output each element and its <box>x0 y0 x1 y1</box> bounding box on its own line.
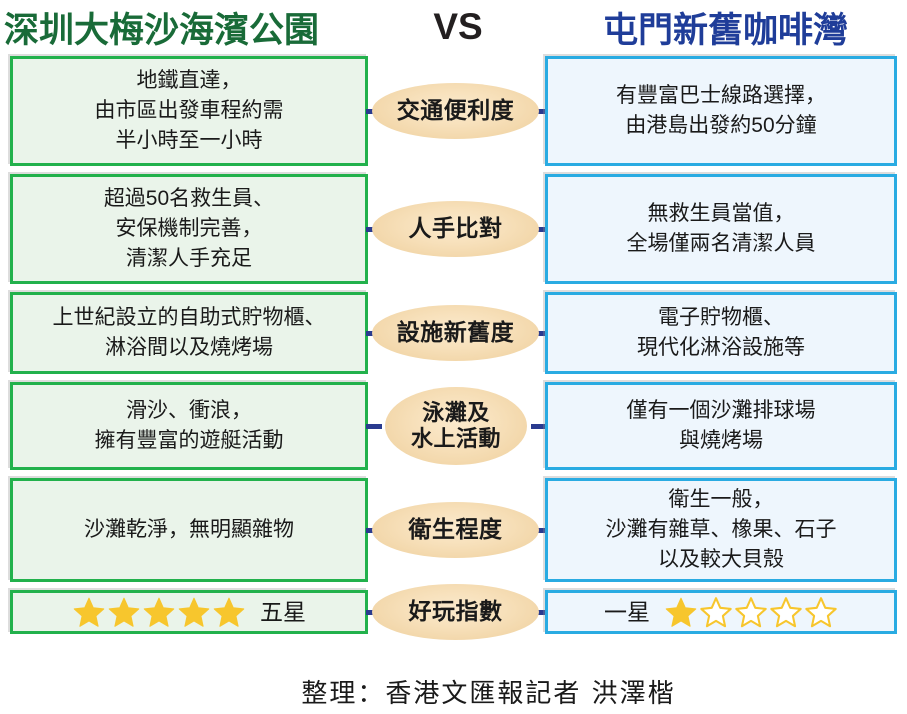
header: 深圳大梅沙海濱公園 VS 屯門新舊咖啡灣 <box>0 0 907 54</box>
right-rating-label: 一星 <box>604 596 650 629</box>
left-rating-label: 五星 <box>260 596 306 629</box>
star-outline-icon <box>699 596 733 629</box>
right-detail-box: 衛生一般，沙灘有雜草、橡果、石子以及較大貝殼 <box>545 478 897 582</box>
comparison-row: 地鐵直達，由市區出發車程約需半小時至一小時交通便利度有豐富巴士線路選擇，由港島出… <box>0 56 907 166</box>
category-label-text: 人手比對 <box>409 215 503 243</box>
star-filled-icon <box>107 596 141 629</box>
left-detail-box: 地鐵直達，由市區出發車程約需半小時至一小時 <box>10 56 368 166</box>
left-detail-text: 上世紀設立的自助式貯物櫃、淋浴間以及燒烤場 <box>53 303 326 363</box>
right-detail-text: 電子貯物櫃、現代化淋浴設施等 <box>637 303 805 363</box>
star-filled-icon <box>142 596 176 629</box>
left-detail-text: 地鐵直達，由市區出發車程約需半小時至一小時 <box>95 66 284 155</box>
left-detail-box: 超過50名救生員、安保機制完善，清潔人手充足 <box>10 174 368 284</box>
category-label-5: 衛生程度 <box>372 502 539 558</box>
category-label-1: 交通便利度 <box>372 83 539 139</box>
left-detail-text: 滑沙、衝浪，擁有豐富的遊艇活動 <box>95 396 284 456</box>
left-detail-text: 超過50名救生員、安保機制完善，清潔人手充足 <box>104 184 274 273</box>
category-label-text: 設施新舊度 <box>397 319 515 347</box>
category-label-text: 好玩指數 <box>409 598 503 626</box>
left-rating: 五星 <box>72 596 306 629</box>
right-detail-text: 有豐富巴士線路選擇，由港島出發約50分鐘 <box>616 81 826 141</box>
right-detail-box: 電子貯物櫃、現代化淋浴設施等 <box>545 292 897 374</box>
right-detail-text: 衛生一般，沙灘有雜草、橡果、石子以及較大貝殼 <box>606 485 837 574</box>
category-label-4: 泳灘及水上活動 <box>385 387 527 465</box>
right-detail-box: 一星 <box>545 590 897 634</box>
right-detail-box: 僅有一個沙灘排球場與燒烤場 <box>545 382 897 470</box>
left-detail-box: 沙灘乾淨，無明顯雜物 <box>10 478 368 582</box>
comparison-rows: 地鐵直達，由市區出發車程約需半小時至一小時交通便利度有豐富巴士線路選擇，由港島出… <box>0 56 907 642</box>
category-label-text: 交通便利度 <box>397 97 515 125</box>
credit-line: 整理：香港文匯報記者 洪澤楷 <box>0 673 907 710</box>
star-filled-icon <box>177 596 211 629</box>
connector-line-left <box>366 424 382 429</box>
comparison-row: 沙灘乾淨，無明顯雜物衛生程度衛生一般，沙灘有雜草、橡果、石子以及較大貝殼 <box>0 478 907 582</box>
left-detail-text: 沙灘乾淨，無明顯雜物 <box>84 515 294 545</box>
right-detail-box: 有豐富巴士線路選擇，由港島出發約50分鐘 <box>545 56 897 166</box>
left-column-title: 深圳大梅沙海濱公園 <box>0 2 372 53</box>
category-label-text: 衛生程度 <box>409 516 503 544</box>
rating-comparison-row: 五星好玩指數一星 <box>0 590 907 634</box>
left-detail-box: 五星 <box>10 590 368 634</box>
comparison-row: 超過50名救生員、安保機制完善，清潔人手充足人手比對無救生員當值，全場僅兩名清潔… <box>0 174 907 284</box>
star-outline-icon <box>734 596 768 629</box>
left-detail-box: 滑沙、衝浪，擁有豐富的遊艇活動 <box>10 382 368 470</box>
category-label-3: 設施新舊度 <box>372 305 539 361</box>
star-outline-icon <box>804 596 838 629</box>
star-outline-icon <box>769 596 803 629</box>
left-detail-box: 上世紀設立的自助式貯物櫃、淋浴間以及燒烤場 <box>10 292 368 374</box>
star-filled-icon <box>212 596 246 629</box>
category-label-text: 泳灘及水上活動 <box>411 400 501 453</box>
right-rating: 一星 <box>604 596 838 629</box>
left-star-group <box>72 596 246 629</box>
right-detail-box: 無救生員當值，全場僅兩名清潔人員 <box>545 174 897 284</box>
category-label-2: 人手比對 <box>372 201 539 257</box>
right-detail-text: 無救生員當值，全場僅兩名清潔人員 <box>627 199 816 259</box>
right-detail-text: 僅有一個沙灘排球場與燒烤場 <box>627 396 816 456</box>
right-star-group <box>664 596 838 629</box>
right-column-title: 屯門新舊咖啡灣 <box>544 2 907 53</box>
star-filled-icon <box>72 596 106 629</box>
comparison-row: 上世紀設立的自助式貯物櫃、淋浴間以及燒烤場設施新舊度電子貯物櫃、現代化淋浴設施等 <box>0 292 907 374</box>
star-filled-icon <box>664 596 698 629</box>
comparison-row: 滑沙、衝浪，擁有豐富的遊艇活動泳灘及水上活動僅有一個沙灘排球場與燒烤場 <box>0 382 907 470</box>
vs-separator-label: VS <box>372 6 544 48</box>
category-label-6: 好玩指數 <box>372 584 539 640</box>
